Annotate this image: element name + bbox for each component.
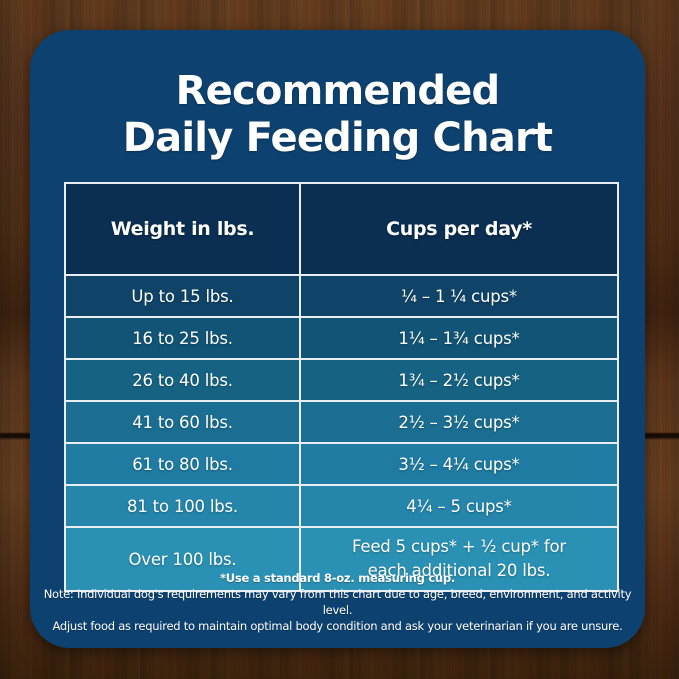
column-header-cups: Cups per day* xyxy=(300,183,618,275)
column-header-weight: Weight in lbs. xyxy=(65,183,300,275)
cups-cell: 4¼ – 5 cups* xyxy=(300,485,618,527)
cups-cell: 1¾ – 2½ cups* xyxy=(300,359,618,401)
table-row: Up to 15 lbs. ¼ – 1 ¼ cups* xyxy=(65,275,618,317)
weight-cell: Up to 15 lbs. xyxy=(65,275,300,317)
cups-cell: 3½ – 4¼ cups* xyxy=(300,443,618,485)
table-row: 81 to 100 lbs. 4¼ – 5 cups* xyxy=(65,485,618,527)
footnotes: *Use a standard 8-oz. measuring cup. Not… xyxy=(30,570,645,634)
table-row: 16 to 25 lbs. 1¼ – 1¾ cups* xyxy=(65,317,618,359)
cups-cell: 1¼ – 1¾ cups* xyxy=(300,317,618,359)
page-title: Recommended Daily Feeding Chart xyxy=(30,68,645,162)
cups-cell-line-1: Feed 5 cups* + ½ cup* for xyxy=(301,535,617,559)
cups-cell: 2½ – 3½ cups* xyxy=(300,401,618,443)
feeding-chart-card: Recommended Daily Feeding Chart Weight i… xyxy=(30,30,645,648)
footnote-measuring-cup: *Use a standard 8-oz. measuring cup. xyxy=(30,570,645,586)
table-row: 61 to 80 lbs. 3½ – 4¼ cups* xyxy=(65,443,618,485)
page-title-line-1: Recommended xyxy=(30,68,645,115)
weight-cell: 16 to 25 lbs. xyxy=(65,317,300,359)
page-title-line-2: Daily Feeding Chart xyxy=(30,115,645,162)
weight-cell: 41 to 60 lbs. xyxy=(65,401,300,443)
weight-cell: 81 to 100 lbs. xyxy=(65,485,300,527)
weight-cell: 61 to 80 lbs. xyxy=(65,443,300,485)
table-header-row: Weight in lbs. Cups per day* xyxy=(65,183,618,275)
table-row: 26 to 40 lbs. 1¾ – 2½ cups* xyxy=(65,359,618,401)
footnote-adjust: Adjust food as required to maintain opti… xyxy=(30,618,645,634)
footnote-note: Note: Individual dog's requirements may … xyxy=(30,586,645,618)
table-row: 41 to 60 lbs. 2½ – 3½ cups* xyxy=(65,401,618,443)
feeding-chart-table: Weight in lbs. Cups per day* Up to 15 lb… xyxy=(64,182,619,592)
weight-cell: 26 to 40 lbs. xyxy=(65,359,300,401)
cups-cell: ¼ – 1 ¼ cups* xyxy=(300,275,618,317)
